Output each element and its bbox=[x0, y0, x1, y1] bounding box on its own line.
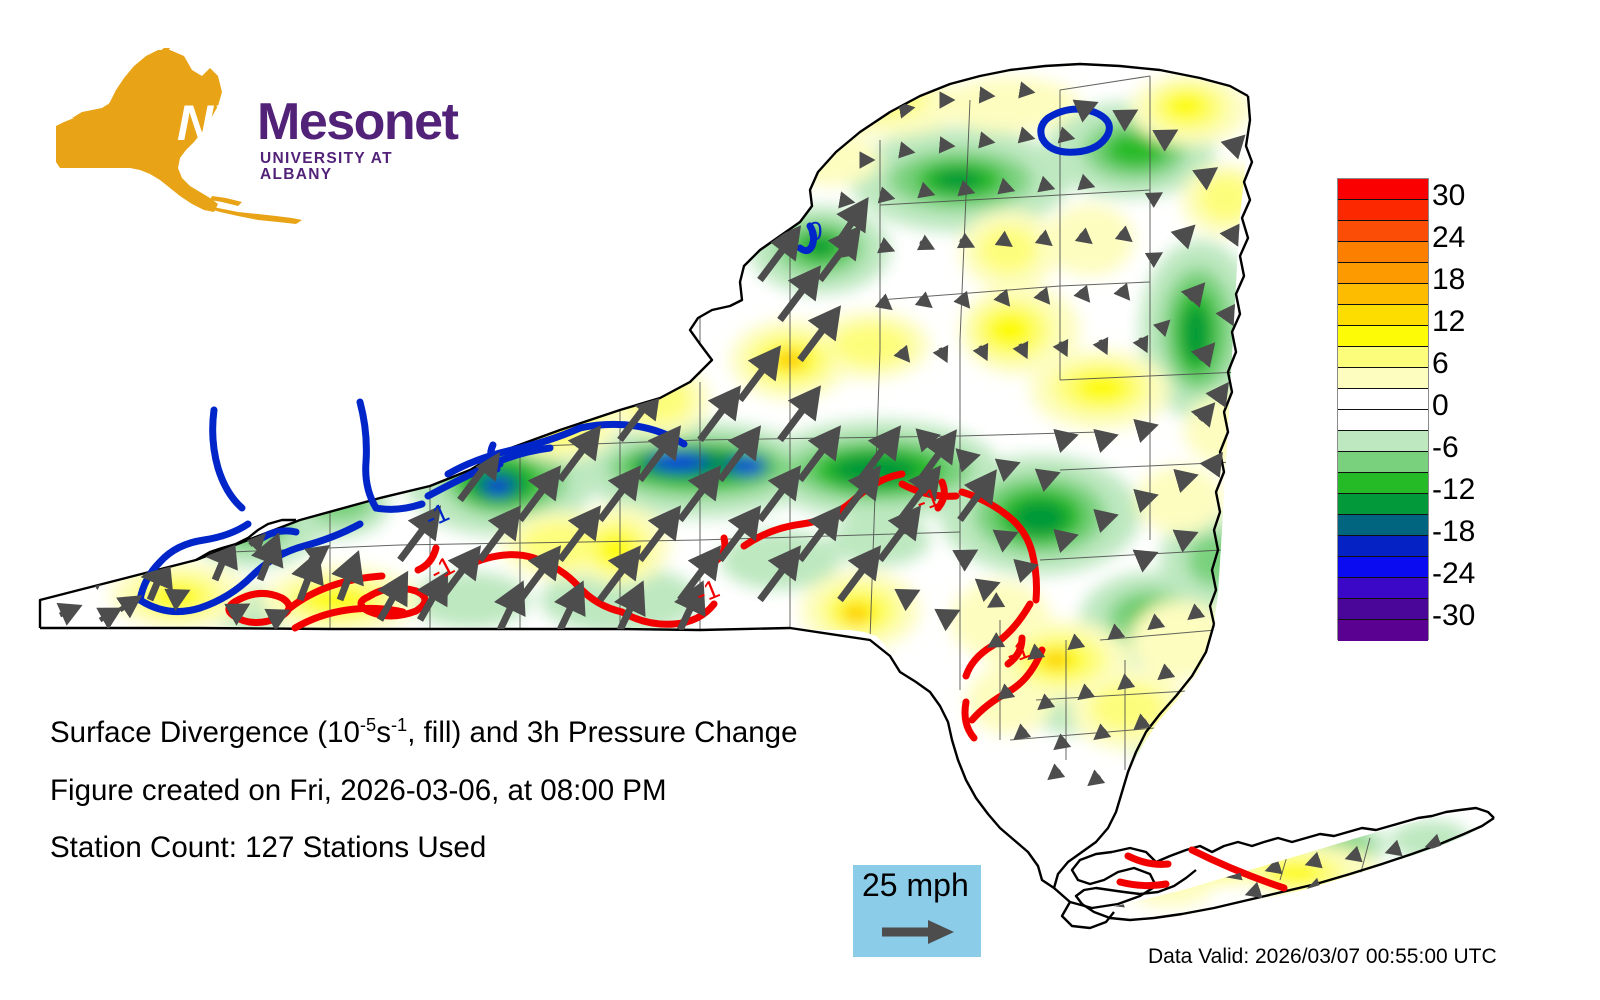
colorbar-tick-label: 6 bbox=[1432, 349, 1449, 379]
colorbar-segment bbox=[1338, 305, 1428, 326]
colorbar-tick-label: -24 bbox=[1432, 559, 1475, 589]
colorbar-segment bbox=[1338, 284, 1428, 305]
colorbar-tick-label: -12 bbox=[1432, 475, 1475, 505]
wind-key-label: 25 mph bbox=[862, 869, 969, 901]
colorbar-segment bbox=[1338, 557, 1428, 578]
data-valid-timestamp: Data Valid: 2026/03/07 00:55:00 UTC bbox=[1148, 946, 1497, 967]
colorbar-segment bbox=[1338, 326, 1428, 347]
colorbar-segment bbox=[1338, 242, 1428, 263]
colorbar-segment bbox=[1338, 452, 1428, 473]
colorbar-segment bbox=[1338, 515, 1428, 536]
caption-exponent-1: -5 bbox=[360, 714, 376, 735]
caption-block: Surface Divergence (10-5s-1, fill) and 3… bbox=[50, 718, 950, 891]
svg-text:0: 0 bbox=[808, 216, 822, 246]
colorbar-segment bbox=[1338, 620, 1428, 641]
colorbar-segment bbox=[1338, 494, 1428, 515]
colorbar-tick-label: 0 bbox=[1432, 391, 1449, 421]
colorbar-segment bbox=[1338, 536, 1428, 557]
colorbar-segment bbox=[1338, 578, 1428, 599]
caption-title-post: , fill) and 3h Pressure Change bbox=[407, 716, 797, 749]
colorbar-tick-label: 12 bbox=[1432, 307, 1465, 337]
colorbar-segment bbox=[1338, 599, 1428, 620]
colorbar-tick-label: -30 bbox=[1432, 601, 1475, 631]
colorbar-segment bbox=[1338, 263, 1428, 284]
colorbar-tick-label: 24 bbox=[1432, 223, 1465, 253]
caption-title-mid: s bbox=[376, 716, 391, 749]
colorbar-segment bbox=[1338, 200, 1428, 221]
wind-speed-key: 25 mph bbox=[853, 865, 981, 957]
colorbar-segment bbox=[1338, 221, 1428, 242]
colorbar-segment bbox=[1338, 473, 1428, 494]
colorbar-tick-label: 30 bbox=[1432, 181, 1465, 211]
wind-arrow-icon bbox=[880, 917, 958, 947]
colorbar-segment bbox=[1338, 368, 1428, 389]
colorbar-segment bbox=[1338, 347, 1428, 368]
colorbar-segment bbox=[1338, 179, 1428, 200]
colorbar-tick-label: -6 bbox=[1432, 433, 1459, 463]
colorbar-tick-label: -18 bbox=[1432, 517, 1475, 547]
caption-title: Surface Divergence (10-5s-1, fill) and 3… bbox=[50, 718, 950, 748]
colorbar-tick-labels: 3024181260-6-12-18-24-30 bbox=[1432, 178, 1572, 640]
divergence-colorbar bbox=[1337, 178, 1429, 640]
caption-exponent-2: -1 bbox=[391, 714, 407, 735]
caption-title-pre: Surface Divergence (10 bbox=[50, 716, 360, 749]
colorbar-segment bbox=[1338, 431, 1428, 452]
colorbar-tick-label: 18 bbox=[1432, 265, 1465, 295]
caption-station-count: Station Count: 127 Stations Used bbox=[50, 833, 950, 863]
colorbar-segment bbox=[1338, 410, 1428, 431]
caption-created: Figure created on Fri, 2026-03-06, at 08… bbox=[50, 776, 950, 806]
colorbar-segment bbox=[1338, 389, 1428, 410]
